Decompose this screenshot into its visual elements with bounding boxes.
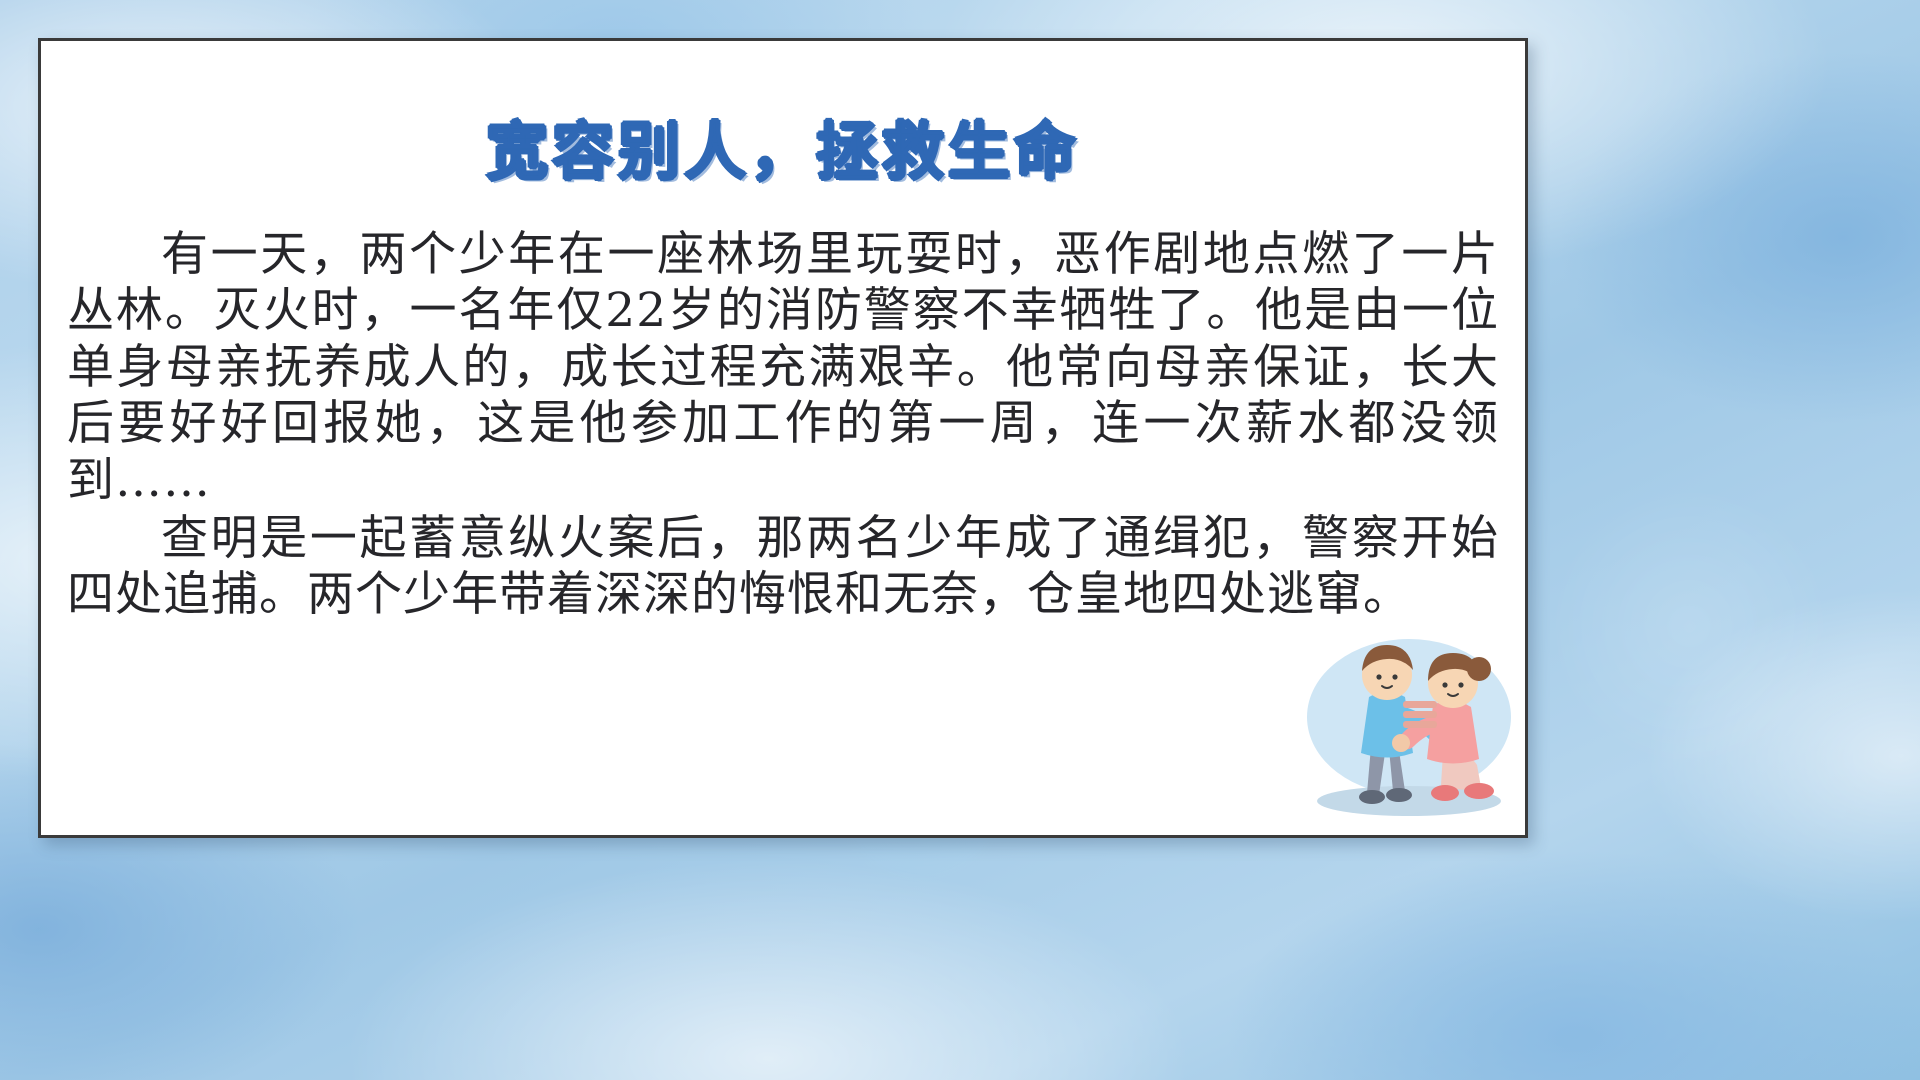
paragraph-2: 查明是一起蓄意纵火案后，那两名少年成了通缉犯，警察开始四处追捕。两个少年带着深深… — [67, 511, 1499, 624]
body-text-block: 有一天，两个少年在一座林场里玩耍时，恶作剧地点燃了一片丛林。灭火时，一名年仅22… — [67, 227, 1499, 624]
paragraph-1: 有一天，两个少年在一座林场里玩耍时，恶作剧地点燃了一片丛林。灭火时，一名年仅22… — [67, 227, 1499, 509]
two-people-comforting-illustration — [1293, 625, 1523, 835]
page-title: 宽容别人，拯救生命 — [41, 101, 1525, 191]
slide-canvas: 宽容别人，拯救生命 有一天，两个少年在一座林场里玩耍时，恶作剧地点燃了一片丛林。… — [0, 0, 1920, 1080]
content-card: 宽容别人，拯救生命 有一天，两个少年在一座林场里玩耍时，恶作剧地点燃了一片丛林。… — [38, 38, 1528, 838]
